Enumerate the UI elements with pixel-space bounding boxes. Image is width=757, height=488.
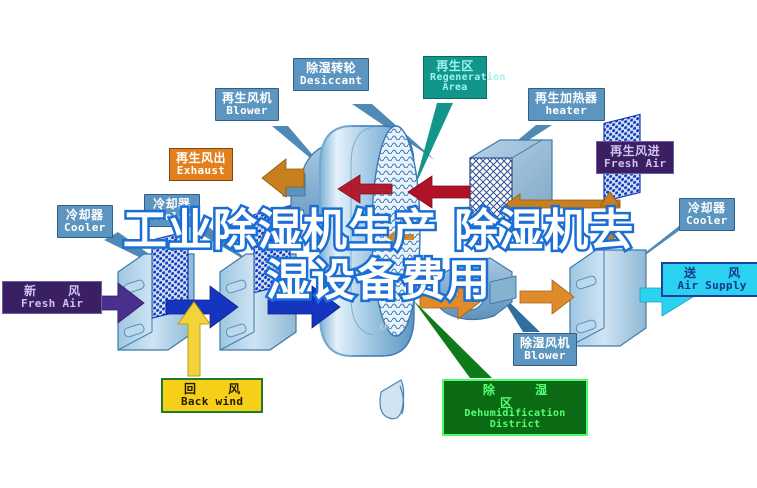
label-en: Blower bbox=[222, 105, 272, 117]
label-cn: 再生风出 bbox=[176, 152, 226, 165]
label-regen-blower: 再生风机 Blower bbox=[215, 88, 279, 121]
label-desiccant-rotor: 除湿转轮 Desiccant bbox=[293, 58, 369, 91]
label-cn: 冷却器 bbox=[64, 209, 106, 222]
label-regen-fresh-air: 再生风进 Fresh Air bbox=[596, 141, 674, 174]
label-en: Cooler bbox=[686, 215, 728, 227]
regen-intake-arrow bbox=[600, 192, 620, 242]
label-cooler-left: 冷却器 Cooler bbox=[57, 205, 113, 238]
svg-text:XK: XK bbox=[378, 323, 391, 333]
label-cn: 除湿风机 bbox=[520, 337, 570, 350]
label-en: Back wind bbox=[170, 396, 254, 408]
label-en: Dehumidification District bbox=[452, 409, 578, 430]
label-cn: 再生风机 bbox=[222, 92, 272, 105]
label-cn: 再生加热器 bbox=[535, 92, 598, 105]
dehumidifier-schematic-art: XK bbox=[0, 0, 757, 488]
label-cn: 送 风 bbox=[670, 267, 754, 280]
label-en: Fresh Air bbox=[604, 158, 666, 170]
label-cooler-right: 冷却器 Cooler bbox=[679, 198, 735, 231]
label-back-wind: 回 风 Back wind bbox=[161, 378, 263, 413]
label-cooler-left-back: 冷却器 Cooler bbox=[144, 194, 200, 227]
label-air-supply: 送 风 Air Supply bbox=[661, 262, 757, 297]
label-process-fresh-air: 新 风 Fresh Air bbox=[2, 281, 102, 314]
label-en: Cooler bbox=[151, 211, 193, 223]
cooler-box-2 bbox=[220, 206, 296, 350]
label-en: Blower bbox=[520, 350, 570, 362]
label-regen-heater: 再生加热器 heater bbox=[528, 88, 605, 121]
label-cn: 冷却器 bbox=[686, 202, 728, 215]
label-cn: 新 风 bbox=[10, 285, 94, 298]
label-cn: 除 湿 区 bbox=[452, 384, 578, 409]
diagram-canvas: XK bbox=[0, 0, 757, 488]
label-cn: 再生区 bbox=[430, 60, 480, 73]
label-en: Regeneration Area bbox=[430, 73, 480, 94]
label-en: Desiccant bbox=[300, 75, 362, 87]
label-regen-area: 再生区 Regeneration Area bbox=[423, 56, 487, 99]
label-en: Exhaust bbox=[176, 165, 226, 177]
label-cn: 再生风进 bbox=[604, 145, 666, 158]
label-dehumid-blower: 除湿风机 Blower bbox=[513, 333, 577, 366]
dehumid-blower-body bbox=[432, 258, 516, 320]
label-dehumid-district: 除 湿 区 Dehumidification District bbox=[442, 379, 588, 436]
label-cn: 冷却器 bbox=[151, 198, 193, 211]
label-en: heater bbox=[535, 105, 598, 117]
label-cn: 除湿转轮 bbox=[300, 62, 362, 75]
label-en: Air Supply bbox=[670, 280, 754, 292]
label-cn: 回 风 bbox=[170, 383, 254, 396]
dry-air-arrow-2 bbox=[520, 280, 574, 314]
desiccant-wheel: XK bbox=[320, 126, 420, 419]
label-regen-exhaust: 再生风出 Exhaust bbox=[169, 148, 233, 181]
label-en: Cooler bbox=[64, 222, 106, 234]
label-en: Fresh Air bbox=[10, 298, 94, 310]
